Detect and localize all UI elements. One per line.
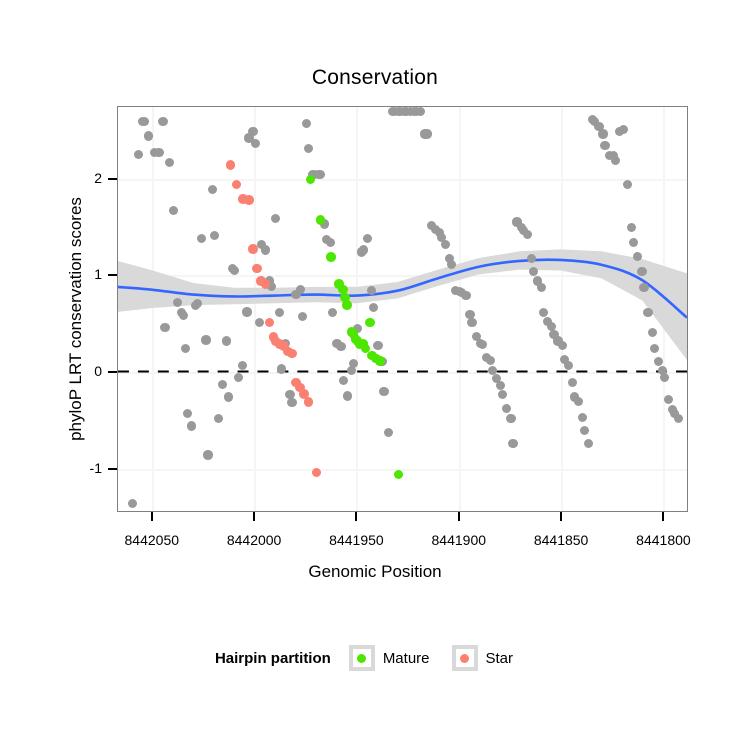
- scatter-point-other: [558, 341, 567, 350]
- y-tick-mark: [108, 468, 117, 470]
- scatter-point-other: [441, 240, 450, 249]
- scatter-point-other: [218, 380, 227, 389]
- x-tick-label: 8441850: [511, 532, 611, 548]
- scatter-point-other: [248, 127, 257, 136]
- scatter-point-other: [173, 298, 182, 307]
- scatter-point-other: [302, 119, 311, 128]
- scatter-point-other: [523, 230, 532, 239]
- x-tick-mark: [355, 512, 357, 521]
- x-tick-label: 8442000: [204, 532, 304, 548]
- scatter-point-other: [349, 359, 358, 368]
- scatter-point-other: [598, 129, 607, 138]
- legend-key-mature[interactable]: [349, 645, 375, 671]
- x-tick-label: 8441900: [409, 532, 509, 548]
- scatter-point-other: [619, 125, 628, 134]
- scatter-point-other: [251, 139, 260, 148]
- scatter-point-mature: [326, 252, 336, 262]
- scatter-point-star: [304, 397, 314, 407]
- scatter-point-other: [144, 131, 153, 140]
- scatter-point-other: [498, 390, 507, 399]
- plot-panel: [117, 106, 688, 512]
- scatter-point-star: [261, 279, 271, 289]
- scatter-point-other: [529, 267, 538, 276]
- scatter-point-other: [224, 392, 233, 401]
- scatter-point-other: [208, 185, 217, 194]
- legend-key-star[interactable]: [452, 645, 478, 671]
- y-tick-mark: [108, 178, 117, 180]
- legend-title: Hairpin partition: [215, 650, 331, 667]
- chart-root: Conservation 210-1 844205084420008441950…: [0, 0, 750, 750]
- scatter-point-other: [134, 150, 143, 159]
- scatter-point-other: [508, 439, 517, 448]
- scatter-point-other: [623, 180, 632, 189]
- scatter-point-other: [160, 323, 169, 332]
- scatter-point-other: [648, 328, 657, 337]
- scatter-point-other: [339, 376, 348, 385]
- scatter-point-star: [226, 160, 236, 170]
- star-color-swatch-icon: [460, 654, 469, 663]
- scatter-point-other: [336, 342, 345, 351]
- scatter-point-other: [158, 117, 167, 126]
- scatter-point-other: [242, 307, 251, 316]
- x-tick-mark: [458, 512, 460, 521]
- scatter-point-other: [373, 341, 382, 350]
- scatter-point-other: [506, 414, 515, 423]
- x-tick-mark: [560, 512, 562, 521]
- y-tick-mark: [108, 274, 117, 276]
- scatter-point-star: [244, 195, 254, 205]
- scatter-point-other: [128, 499, 137, 508]
- scatter-point-star: [287, 349, 297, 359]
- scatter-point-other: [611, 156, 620, 165]
- scatter-point-other: [255, 318, 264, 327]
- scatter-point-other: [564, 361, 573, 370]
- mature-color-swatch-icon: [357, 654, 366, 663]
- scatter-point-other: [277, 364, 286, 373]
- scatter-point-other: [600, 141, 609, 150]
- scatter-point-other: [298, 312, 307, 321]
- scatter-point-other: [343, 391, 352, 400]
- legend: Hairpin partition Mature Star: [0, 645, 750, 671]
- scatter-point-other: [486, 356, 495, 365]
- scatter-point-other: [568, 378, 577, 387]
- scatter-point-other: [654, 357, 663, 366]
- scatter-point-other: [169, 206, 178, 215]
- x-axis-label: Genomic Position: [0, 562, 750, 582]
- page-title: Conservation: [0, 66, 750, 90]
- scatter-point-other: [359, 245, 368, 254]
- x-tick-label: 8442050: [102, 532, 202, 548]
- scatter-point-star: [252, 264, 262, 274]
- x-tick-label: 8441950: [306, 532, 406, 548]
- scatter-point-other: [304, 144, 313, 153]
- y-axis-label: phyloP LRT conservation scores: [66, 119, 86, 519]
- scatter-point-other: [379, 387, 388, 396]
- scatter-point-mature: [375, 356, 385, 366]
- scatter-point-other: [650, 344, 659, 353]
- scatter-point-other: [187, 421, 196, 430]
- legend-label-mature: Mature: [383, 650, 430, 667]
- scatter-point-other: [296, 285, 305, 294]
- scatter-point-other: [384, 428, 393, 437]
- scatter-point-mature: [342, 300, 352, 310]
- scatter-point-other: [422, 129, 431, 138]
- scatter-point-other: [369, 303, 378, 312]
- x-tick-mark: [253, 512, 255, 521]
- scatter-point-other: [637, 267, 646, 276]
- scatter-point-other: [222, 336, 231, 345]
- scatter-point-other: [201, 335, 210, 344]
- scatter-point-mature: [365, 318, 375, 328]
- x-tick-label: 8441800: [613, 532, 713, 548]
- scatter-point-other: [578, 413, 587, 422]
- legend-label-star: Star: [486, 650, 514, 667]
- scatter-point-other: [214, 414, 223, 423]
- x-tick-mark: [662, 512, 664, 521]
- scatter-point-other: [165, 158, 174, 167]
- y-tick-mark: [108, 371, 117, 373]
- scatter-point-other: [467, 318, 476, 327]
- scatter-point-other: [261, 245, 270, 254]
- scatter-point-other: [287, 398, 296, 407]
- scatter-point-other: [461, 291, 470, 300]
- scatter-point-other: [154, 148, 163, 157]
- scatter-point-other: [203, 450, 212, 459]
- x-tick-mark: [151, 512, 153, 521]
- scatter-point-other: [271, 214, 280, 223]
- scatter-point-star: [248, 244, 258, 254]
- scatter-point-other: [210, 231, 219, 240]
- scatter-point-other: [639, 283, 648, 292]
